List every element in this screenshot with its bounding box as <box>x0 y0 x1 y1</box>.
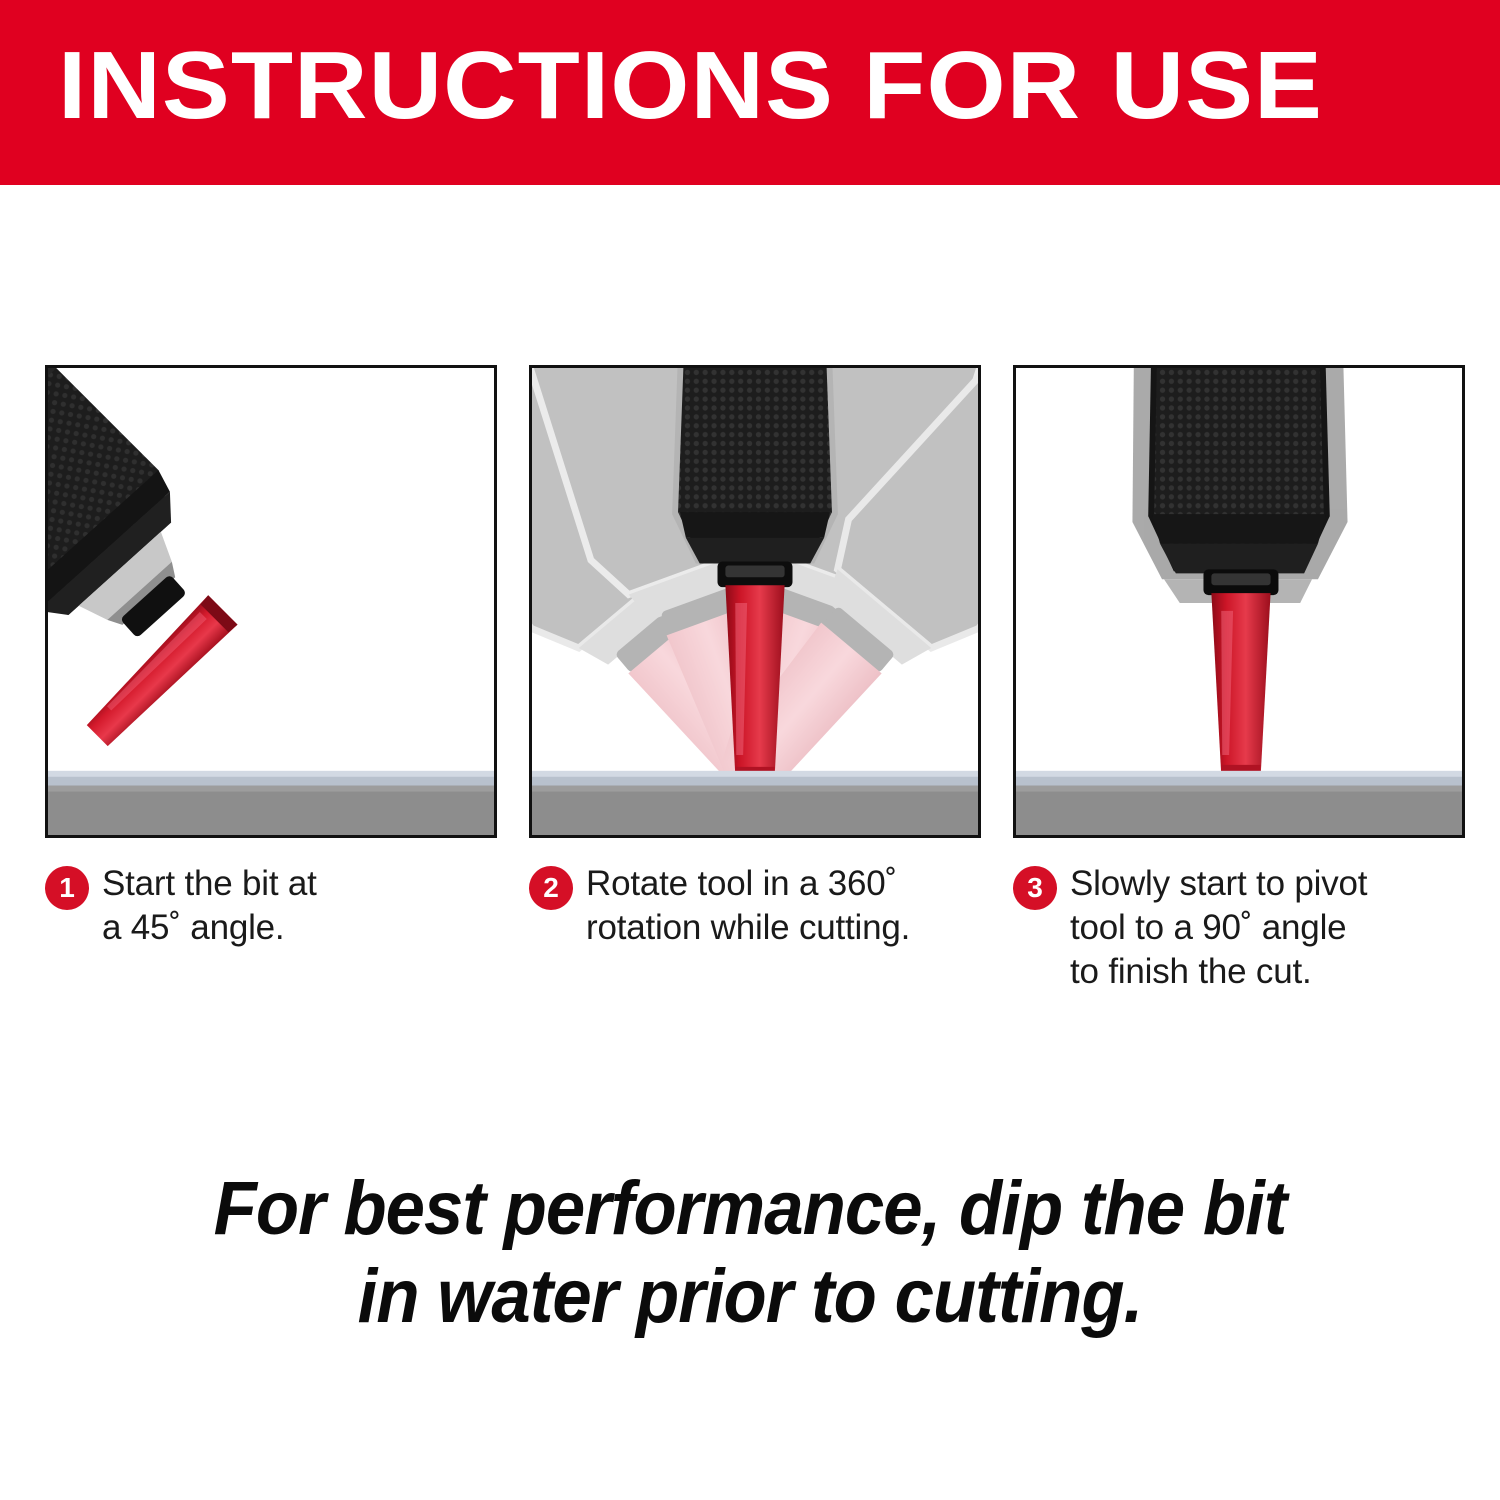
step-number-badge-1: 1 <box>45 866 89 910</box>
tool-rotating-360-icon <box>532 368 978 835</box>
step-2-illustration-panel <box>529 365 981 838</box>
caption-line: tool to a 90˚ angle <box>1070 906 1367 950</box>
tool-at-45-degrees-icon <box>48 368 494 835</box>
step-caption-2: 2 Rotate tool in a 360˚ rotation while c… <box>529 862 981 1062</box>
footer-tip-line-2: in water prior to cutting. <box>53 1253 1448 1341</box>
step-captions: 1 Start the bit at a 45˚ angle. 2 Rotate… <box>45 862 1465 1062</box>
illustration-panels <box>45 365 1465 840</box>
caption-line: Rotate tool in a 360˚ <box>586 862 910 906</box>
tool-at-90-degrees-icon <box>1016 368 1462 835</box>
page-title: INSTRUCTIONS FOR USE <box>58 34 1500 138</box>
step-1-illustration-panel <box>45 365 497 838</box>
step-number-badge-2: 2 <box>529 866 573 910</box>
step-caption-text-3: Slowly start to pivot tool to a 90˚ angl… <box>1070 862 1367 994</box>
step-caption-3: 3 Slowly start to pivot tool to a 90˚ an… <box>1013 862 1465 1062</box>
caption-line: Slowly start to pivot <box>1070 862 1367 906</box>
step-3-illustration-panel <box>1013 365 1465 838</box>
step-caption-1: 1 Start the bit at a 45˚ angle. <box>45 862 497 1062</box>
caption-line: to finish the cut. <box>1070 950 1367 994</box>
step-caption-text-2: Rotate tool in a 360˚ rotation while cut… <box>586 862 910 950</box>
footer-tip: For best performance, dip the bit in wat… <box>53 1165 1448 1341</box>
footer-tip-line-1: For best performance, dip the bit <box>53 1165 1448 1253</box>
caption-line: a 45˚ angle. <box>102 906 317 950</box>
caption-line: rotation while cutting. <box>586 906 910 950</box>
header-banner: INSTRUCTIONS FOR USE <box>0 0 1500 185</box>
caption-line: Start the bit at <box>102 862 317 906</box>
step-caption-text-1: Start the bit at a 45˚ angle. <box>102 862 317 950</box>
step-number-badge-3: 3 <box>1013 866 1057 910</box>
